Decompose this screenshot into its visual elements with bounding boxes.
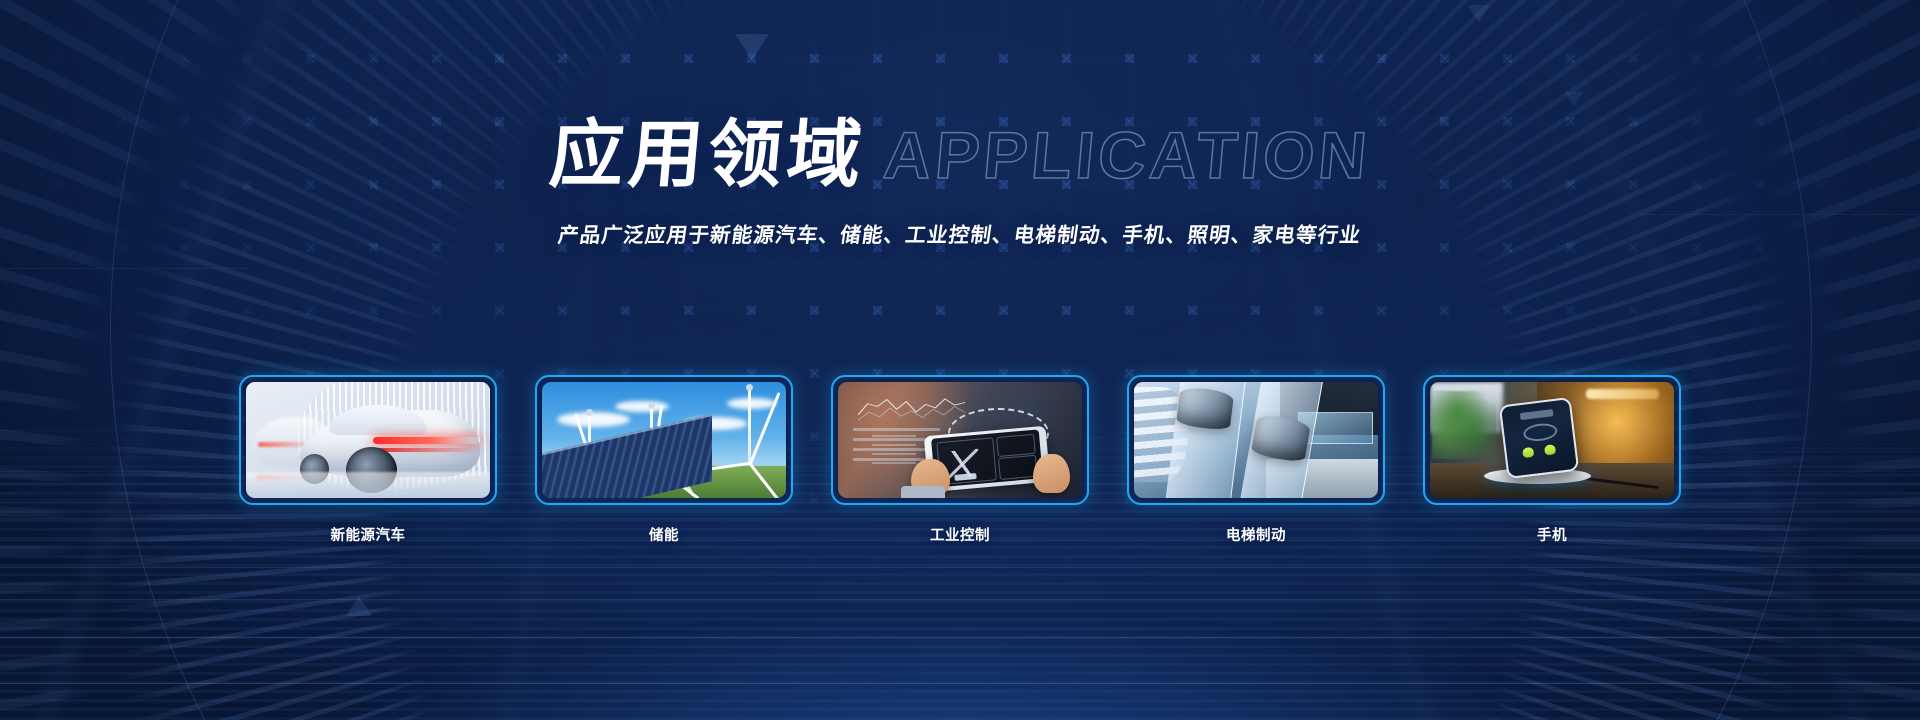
title-row: 应用领域 APPLICATION	[550, 118, 1370, 192]
card-label: 工业控制	[831, 524, 1089, 545]
headline-block: 应用领域 APPLICATION 产品广泛应用于新能源汽车、储能、工业控制、电梯…	[0, 118, 1920, 248]
card-label: 电梯制动	[1127, 524, 1385, 545]
industrial-control-photo	[838, 382, 1082, 498]
card-image	[1134, 382, 1378, 498]
hairline-decoration	[0, 268, 250, 269]
application-banner: 应用领域 APPLICATION 产品广泛应用于新能源汽车、储能、工业控制、电梯…	[0, 0, 1920, 720]
card-frame[interactable]	[1127, 375, 1385, 505]
card-image	[542, 382, 786, 498]
application-card[interactable]: 电梯制动	[1127, 375, 1385, 545]
energy-storage-photo	[542, 382, 786, 498]
triangle-glint-icon	[1565, 92, 1583, 106]
card-image	[838, 382, 1082, 498]
application-card[interactable]: 手机	[1423, 375, 1681, 545]
page-title-english: APPLICATION	[881, 122, 1373, 188]
page-subtitle: 产品广泛应用于新能源汽车、储能、工业控制、电梯制动、手机、照明、家电等行业	[0, 218, 1920, 248]
card-image	[246, 382, 490, 498]
new-energy-vehicle-photo	[246, 382, 490, 498]
application-card-list: 新能源汽车	[0, 375, 1920, 545]
elevator-braking-photo	[1134, 382, 1378, 498]
card-frame[interactable]	[831, 375, 1089, 505]
card-image	[1430, 382, 1674, 498]
card-label: 储能	[535, 524, 793, 545]
card-frame[interactable]	[535, 375, 793, 505]
page-title: 应用领域	[547, 118, 869, 192]
triangle-glint-icon	[735, 34, 769, 60]
card-label: 手机	[1423, 524, 1681, 545]
card-frame[interactable]	[239, 375, 497, 505]
application-card[interactable]: 储能	[535, 375, 793, 545]
application-card[interactable]: 新能源汽车	[239, 375, 497, 545]
application-card[interactable]: 工业控制	[831, 375, 1089, 545]
triangle-glint-icon	[1468, 5, 1490, 22]
card-label: 新能源汽车	[239, 524, 497, 545]
hairline-decoration	[1640, 214, 1920, 215]
mobile-phone-photo	[1430, 382, 1674, 498]
card-frame[interactable]	[1423, 375, 1681, 505]
